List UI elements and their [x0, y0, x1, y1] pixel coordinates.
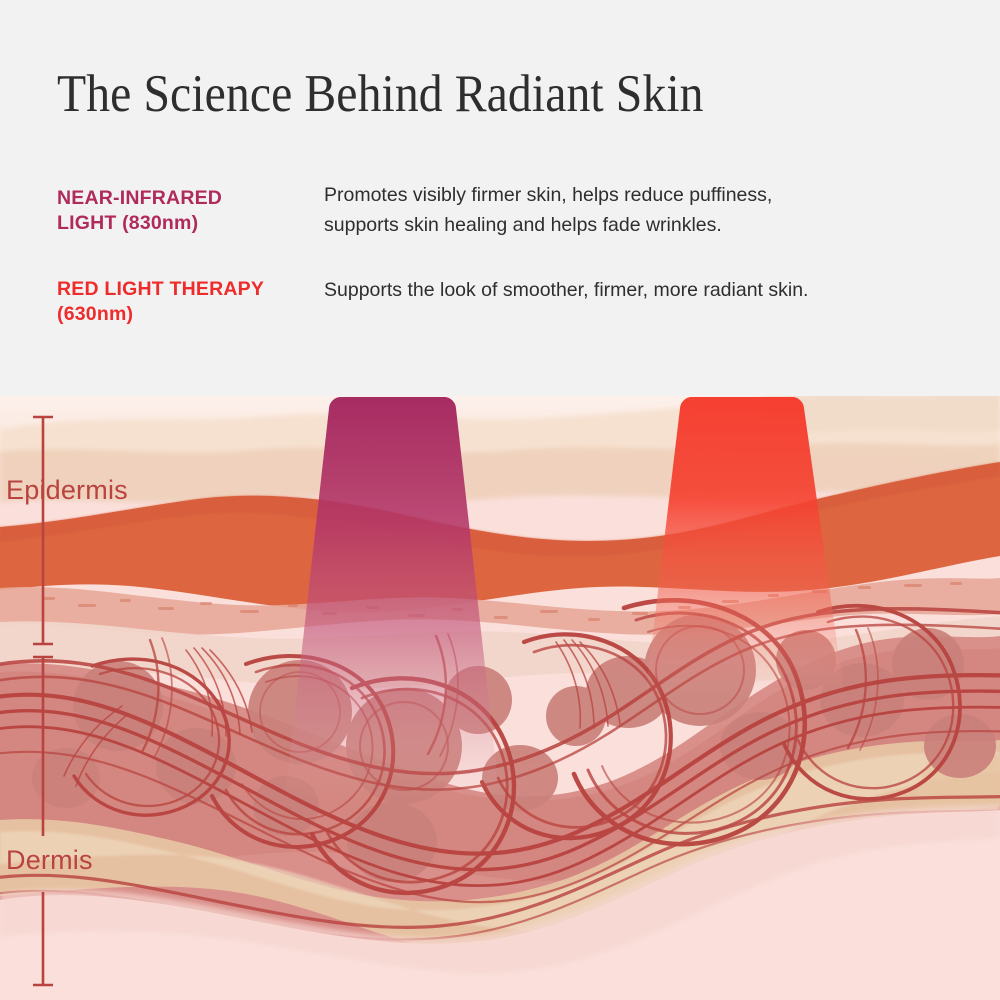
- layer-label-dermis: Dermis: [6, 845, 93, 876]
- legend-term-red-light-line2: (630nm): [57, 302, 327, 327]
- legend-term-near-infrared-line2: LIGHT (830nm): [57, 211, 327, 236]
- infographic-root: Epidermis Dermis The Science Behind Radi…: [0, 0, 1000, 1000]
- legend-description-near-infrared: Promotes visibly firmer skin, helps redu…: [324, 180, 964, 240]
- header-panel: The Science Behind Radiant Skin NEAR-INF…: [0, 0, 1000, 396]
- legend-term-near-infrared: NEAR-INFRARED LIGHT (830nm): [57, 186, 327, 236]
- legend-description-near-infrared-line1: Promotes visibly firmer skin, helps redu…: [324, 180, 964, 210]
- fat-cell: [347, 802, 437, 882]
- page-title: The Science Behind Radiant Skin: [57, 62, 704, 126]
- legend-term-red-light-line1: RED LIGHT THERAPY: [57, 277, 327, 302]
- legend-term-near-infrared-line1: NEAR-INFRARED: [57, 186, 327, 211]
- layer-label-epidermis: Epidermis: [6, 475, 128, 506]
- legend-description-red-light-line1: Supports the look of smoother, firmer, m…: [324, 275, 964, 305]
- legend-description-near-infrared-line2: supports skin healing and helps fade wri…: [324, 210, 964, 240]
- skin-layers-group: [0, 393, 1000, 1000]
- legend-description-red-light: Supports the look of smoother, firmer, m…: [324, 275, 964, 305]
- legend-term-red-light: RED LIGHT THERAPY (630nm): [57, 277, 327, 327]
